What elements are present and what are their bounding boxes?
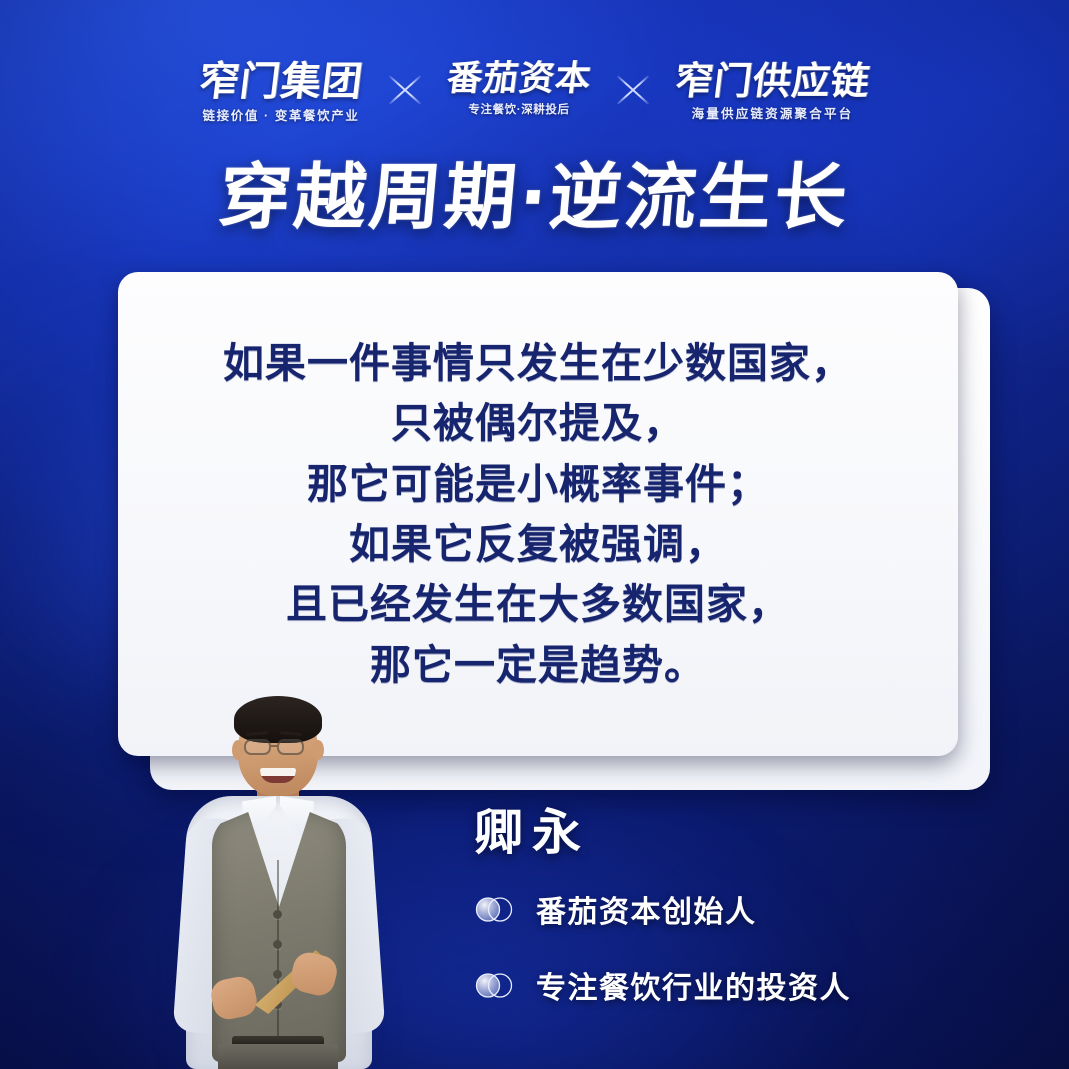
venn-circles-icon [474, 896, 514, 923]
logo-bar: 窄门集团 链接价值 · 变革餐饮产业 番茄资本 专注餐饮·深耕投后 窄门供应链 … [0, 62, 1069, 123]
portrait-glasses-left-lens [244, 739, 271, 755]
brand-name: 窄门集团 [197, 62, 366, 102]
brand-name: 窄门供应链 [673, 62, 873, 100]
list-item: 番茄资本创始人 [474, 887, 994, 931]
portrait-vest-button [273, 970, 282, 979]
speaker-credentials-list: 番茄资本创始人 专注餐饮行业的投资人 [474, 887, 994, 1007]
brand-tagline: 专注餐饮·深耕投后 [447, 105, 591, 117]
brand-logo-narrow-door-group: 窄门集团 链接价值 · 变革餐饮产业 [199, 62, 363, 123]
cross-separator-icon [613, 68, 653, 112]
brand-logo-tomato-capital: 番茄资本 专注餐饮·深耕投后 [447, 62, 591, 117]
brand-logo-narrow-door-supply-chain: 窄门供应链 海量供应链资源聚合平台 [675, 62, 870, 121]
speaker-info: 卿永 番茄资本创始人 专注餐饮行业的投资人 [474, 808, 994, 1039]
quote-line: 那它一定是趋势。 [370, 635, 706, 695]
portrait-hair [234, 696, 322, 743]
quote-line: 只被偶尔提及， [391, 393, 685, 453]
credential-text: 专注餐饮行业的投资人 [536, 963, 851, 1007]
quote-line: 那它可能是小概率事件； [307, 454, 769, 514]
portrait-ear-left [232, 740, 244, 760]
credential-text: 番茄资本创始人 [536, 887, 757, 931]
quote-line: 如果它反复被强调， [349, 514, 727, 574]
portrait-ear-right [312, 740, 324, 760]
portrait-trousers [218, 1044, 338, 1069]
page-title: 穿越周期·逆流生长 [0, 160, 1069, 236]
list-item: 专注餐饮行业的投资人 [474, 963, 994, 1007]
quote-line: 如果一件事情只发生在少数国家， [223, 333, 853, 393]
speaker-name: 卿永 [474, 808, 994, 857]
cross-separator-icon [385, 68, 425, 112]
portrait-vest-button [273, 940, 282, 949]
speaker-portrait [160, 692, 395, 1069]
portrait-glasses-right-lens [277, 739, 304, 755]
brand-name: 番茄资本 [445, 62, 593, 97]
portrait-vest-seam [277, 860, 279, 1045]
venn-circles-icon [474, 972, 514, 999]
quote-card: 如果一件事情只发生在少数国家， 只被偶尔提及， 那它可能是小概率事件； 如果它反… [118, 272, 958, 756]
quote-line: 且已经发生在大多数国家， [286, 574, 790, 634]
brand-tagline: 海量供应链资源聚合平台 [675, 108, 870, 121]
brand-tagline: 链接价值 · 变革餐饮产业 [199, 110, 363, 123]
portrait-glasses-bridge [271, 745, 277, 747]
portrait-vest-button [273, 910, 282, 919]
